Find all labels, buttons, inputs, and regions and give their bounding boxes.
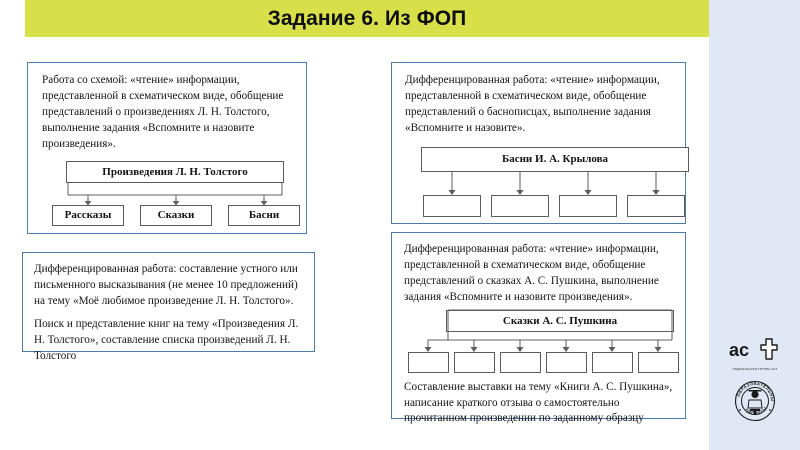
panel-bottom-right-text-top: Дифференцированная работа: «чтение» инфо… — [404, 242, 673, 306]
title-banner: Задание 6. Из ФОП — [25, 0, 709, 37]
paragraph: Дифференцированная работа: составление у… — [34, 262, 303, 310]
panel-top-right: Дифференцированная работа: «чтение» инфо… — [391, 62, 686, 224]
seal-icon: ОБРАЗОВАТЕЛЬНЫЕ ПРОЕКТЫ — [732, 378, 778, 424]
diagram-leaf-node: Басни — [228, 205, 300, 226]
diagram-leaf-node — [423, 195, 481, 217]
panel-bottom-right-text-bottom: Составление выставки на тему «Книги А. С… — [404, 380, 673, 428]
educational-projects-seal: ОБРАЗОВАТЕЛЬНЫЕ ПРОЕКТЫ — [722, 378, 788, 424]
paragraph: Составление выставки на тему «Книги А. С… — [404, 380, 673, 428]
panel-top-left-text: Работа со схемой: «чтение» информации, п… — [42, 73, 294, 153]
ast-logo-icon: ас — [729, 338, 781, 360]
panel-bottom-left-text: Дифференцированная работа: составление у… — [34, 262, 303, 364]
diagram-leaf-node: Сказки — [140, 205, 212, 226]
diagram-leaf-node — [408, 352, 449, 373]
page-title: Задание 6. Из ФОП — [25, 0, 709, 37]
paragraph: Поиск и представление книг на тему «Прои… — [34, 317, 303, 365]
ast-logo-caption: ИЗДАТЕЛЬСКАЯ ГРУППА АСТ — [722, 367, 788, 371]
diagram-leaf-node — [627, 195, 685, 217]
panel-bottom-left: Дифференцированная работа: составление у… — [22, 252, 315, 352]
paragraph: Дифференцированная работа: «чтение» инфо… — [404, 242, 673, 306]
diagram-pushkin-tales: Сказки А. С. Пушкина — [406, 310, 678, 376]
diagram-krylov-fables: Басни И. А. Крылова — [421, 147, 691, 219]
diagram-leaf-node — [500, 352, 541, 373]
paragraph: Дифференцированная работа: «чтение» инфо… — [405, 73, 673, 137]
ast-brand-mark: ас — [722, 338, 788, 365]
svg-text:ас: ас — [729, 340, 749, 360]
diagram-leaf-node — [491, 195, 549, 217]
diagram-leaf-node — [592, 352, 633, 373]
panel-top-right-text: Дифференцированная работа: «чтение» инфо… — [405, 73, 673, 137]
diagram-leaf-node: Рассказы — [52, 205, 124, 226]
panel-bottom-right: Дифференцированная работа: «чтение» инфо… — [391, 232, 686, 419]
paragraph: Работа со схемой: «чтение» информации, п… — [42, 73, 294, 153]
diagram-leaf-node — [559, 195, 617, 217]
diagram-leaf-node — [638, 352, 679, 373]
publisher-logo: ас ИЗДАТЕЛЬСКАЯ ГРУППА АСТ — [722, 338, 788, 438]
diagram-leaf-node — [454, 352, 495, 373]
panel-top-left: Работа со схемой: «чтение» информации, п… — [27, 62, 307, 234]
slide-canvas: Задание 6. Из ФОП Работа со схемой: «чте… — [0, 0, 800, 450]
diagram-tolstoy-works: Произведения Л. Н. Толстого Рассказы Ска… — [50, 161, 302, 223]
diagram-leaf-node — [546, 352, 587, 373]
